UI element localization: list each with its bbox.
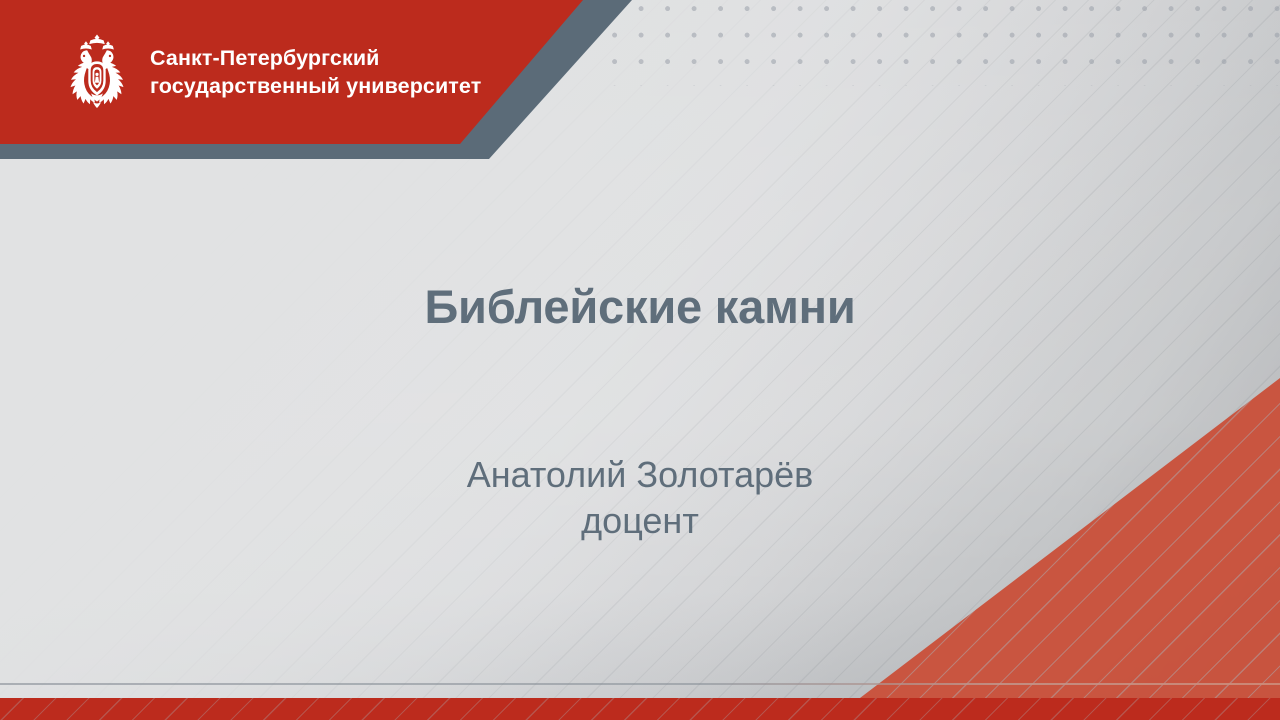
- presenter-name-and-role: Анатолий Золотарёв доцент: [130, 452, 1150, 544]
- presentation-slide: Санкт-Петербургский государственный унив…: [0, 0, 1280, 720]
- university-logo: Санкт-Петербургский государственный унив…: [60, 33, 481, 111]
- footer-hairline-divider: [0, 683, 1280, 685]
- subtitle-block: Анатолий Золотарёв доцент: [130, 452, 1150, 544]
- footer-red-bar: [0, 698, 1280, 720]
- university-name: Санкт-Петербургский государственный унив…: [150, 44, 481, 101]
- page-title: Библейские камни: [130, 280, 1150, 334]
- title-block: Библейские камни: [130, 280, 1150, 334]
- double-headed-eagle-emblem-icon: [60, 33, 134, 111]
